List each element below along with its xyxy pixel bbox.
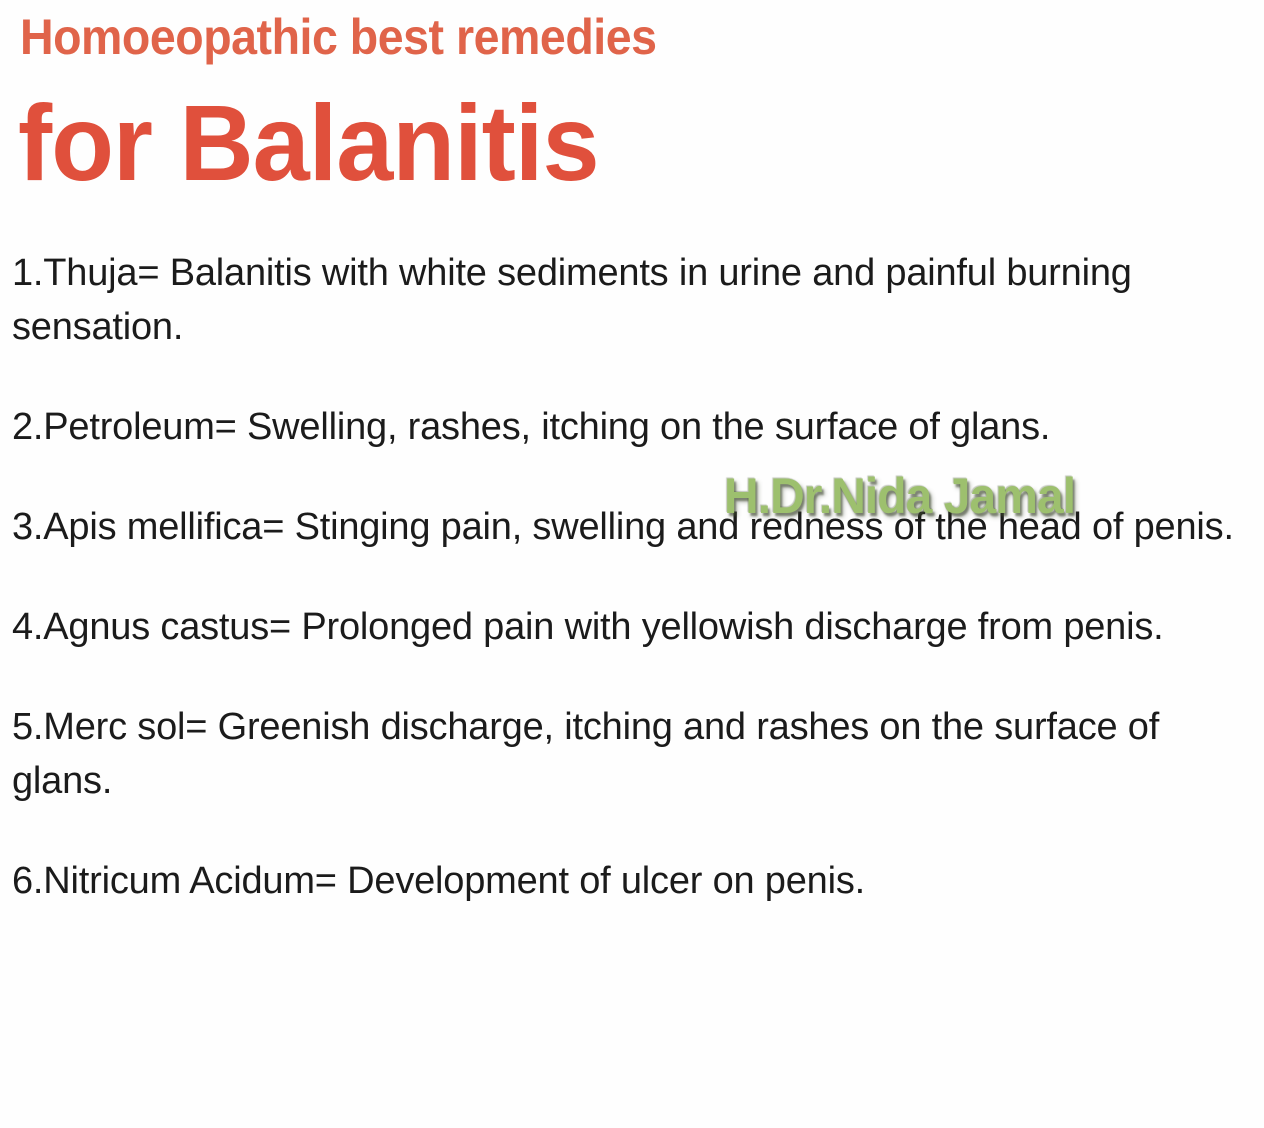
list-item: 5.Merc sol= Greenish discharge, itching … (12, 700, 1252, 808)
list-item: 6.Nitricum Acidum= Development of ulcer … (12, 854, 1252, 908)
remedy-list: 1.Thuja= Balanitis with white sediments … (12, 246, 1260, 908)
page-title: for Balanitis (18, 82, 599, 204)
poster-kicker: Homoeopathic best remedies (20, 8, 657, 66)
list-item: 1.Thuja= Balanitis with white sediments … (12, 246, 1252, 354)
list-item: 2.Petroleum= Swelling, rashes, itching o… (12, 400, 1252, 454)
list-item: 4.Agnus castus= Prolonged pain with yell… (12, 600, 1252, 654)
list-item: 3.Apis mellifica= Stinging pain, swellin… (12, 500, 1252, 554)
poster-canvas: Homoeopathic best remedies for Balanitis… (0, 0, 1264, 1128)
